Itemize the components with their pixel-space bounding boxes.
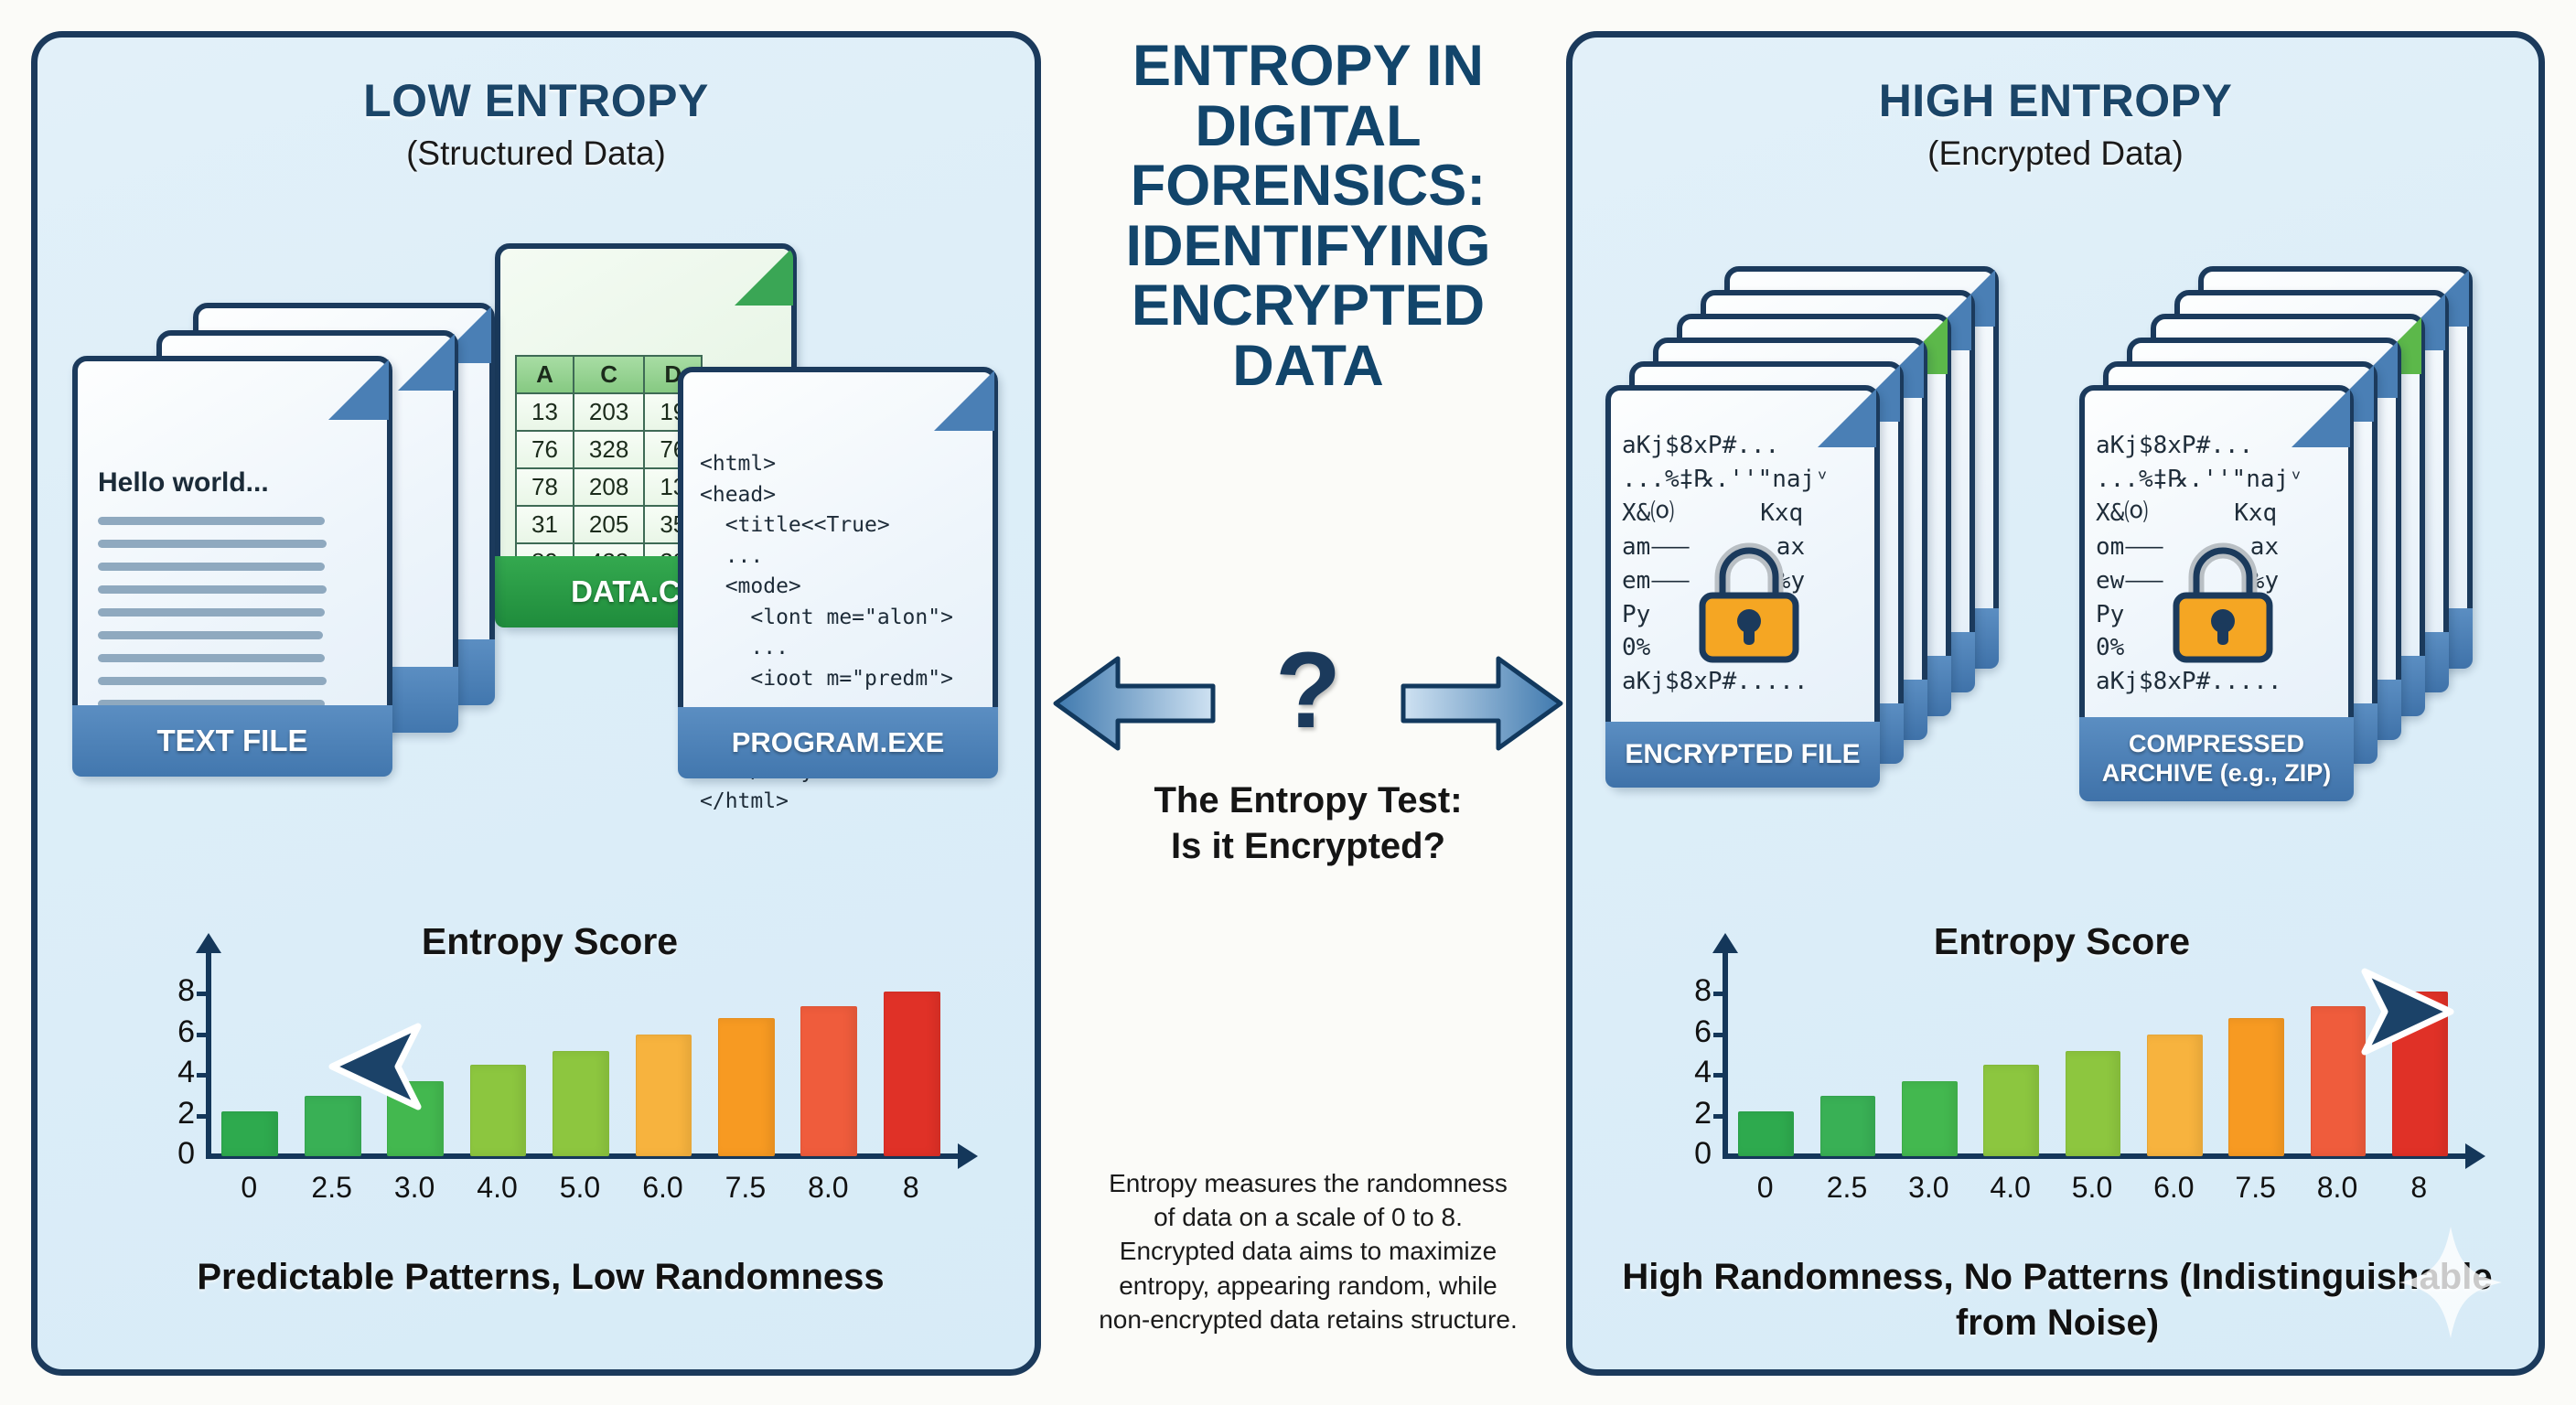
chart-x-tick-label: 2.5	[290, 1171, 372, 1205]
compressed-file-card[interactable]: aKj$8xP#... ...%‡℞.''"najᵛ X&⒪ Kxq om⸺ a…	[2079, 385, 2354, 801]
csv-cell: 208	[574, 468, 644, 506]
csv-row: 1320319	[516, 393, 702, 431]
chart-x-axis-arrow	[958, 1143, 978, 1169]
chart-x-tick-label: 5.0	[539, 1171, 621, 1205]
chart-x-tick-label: 8.0	[2296, 1171, 2377, 1205]
chart-y-tick-mark	[197, 1114, 209, 1119]
chart-y-axis	[1723, 949, 1728, 1156]
chart-x-tick-label: 4.0	[1970, 1171, 2051, 1205]
chart-x-axis-arrow	[2465, 1143, 2485, 1169]
chart-plot-area	[1724, 973, 2460, 1156]
program-file-label: PROGRAM.EXE	[678, 707, 998, 778]
csv-col-c: C	[574, 356, 644, 393]
chart-y-axis-arrow	[196, 933, 221, 953]
chart-y-tick-mark	[197, 1073, 209, 1078]
text-file-line	[98, 563, 325, 571]
text-file-line	[98, 677, 327, 685]
compressed-label-line2: ARCHIVE (e.g., ZIP)	[2102, 759, 2332, 788]
csv-cell: 78	[516, 468, 574, 506]
high-entropy-subtitle: (Encrypted Data)	[1572, 134, 2538, 173]
chart-x-tick-label: 6.0	[2133, 1171, 2215, 1205]
left-chart-title: Entropy Score	[120, 920, 980, 963]
chart-x-tick-label: 4.0	[456, 1171, 538, 1205]
chart-x-tick-label: 7.5	[704, 1171, 787, 1205]
chart-x-tick-label: 3.0	[373, 1171, 456, 1205]
chart-bar	[718, 1018, 775, 1156]
chart-x-tick-label: 6.0	[621, 1171, 703, 1205]
chart-bar	[2228, 1018, 2284, 1156]
csv-row: 7632876	[516, 431, 702, 468]
infographic-canvas: LOW ENTROPY (Structured Data) A C D 1320…	[0, 0, 2576, 1405]
chart-y-tick-label: 0	[1668, 1136, 1712, 1172]
chart-y-tick-mark	[1713, 1114, 1726, 1119]
program-file-fold-corner	[934, 370, 994, 431]
chart-y-tick-label: 4	[151, 1055, 195, 1090]
csv-cell: 31	[516, 506, 574, 543]
text-file-line	[98, 654, 325, 662]
chart-bar	[636, 1035, 692, 1156]
chart-marker-arrow-left-icon	[327, 1019, 427, 1114]
entropy-test-line2: Is it Encrypted?	[1052, 823, 1564, 869]
entropy-explanation-note: Entropy measures the randomness of data …	[1098, 1166, 1519, 1336]
sparkle-icon	[2396, 1223, 2506, 1342]
low-entropy-panel: LOW ENTROPY (Structured Data) A C D 1320…	[31, 31, 1041, 1376]
chart-plot-area	[208, 973, 952, 1156]
csv-row: 3120535	[516, 506, 702, 543]
text-file-card[interactable]: Hello world... TEXT FILE	[72, 356, 392, 777]
chart-y-tick-mark	[1713, 1073, 1726, 1078]
csv-row: 7820813	[516, 468, 702, 506]
chart-bar	[800, 1006, 857, 1156]
chart-y-tick-mark	[1713, 992, 1726, 996]
chart-bar	[470, 1065, 527, 1156]
chart-marker-arrow-right-icon	[2356, 964, 2456, 1059]
compressed-file-label: COMPRESSED ARCHIVE (e.g., ZIP)	[2079, 717, 2354, 801]
csv-cell: 76	[516, 431, 574, 468]
entropy-decision-row: ?	[1052, 631, 1564, 759]
chart-x-tick-label: 8	[2378, 1171, 2460, 1205]
chart-y-tick-label: 8	[151, 973, 195, 1009]
chart-bar	[1983, 1065, 2039, 1156]
high-entropy-title: HIGH ENTROPY	[1572, 74, 2538, 127]
chart-y-tick-label: 6	[1668, 1014, 1712, 1050]
left-entropy-chart: Entropy Score 0246802.53.04.05.06.07.58.…	[120, 920, 980, 1222]
entropy-test-label: The Entropy Test: Is it Encrypted?	[1052, 778, 1564, 869]
right-entropy-chart: Entropy Score 0246802.53.04.05.06.07.58.…	[1637, 920, 2487, 1222]
chart-y-tick-mark	[197, 1033, 209, 1037]
chart-x-tick-label: 8	[870, 1171, 952, 1205]
csv-header-row: A C D	[516, 356, 702, 393]
encrypted-file-card[interactable]: aKj$8xP#... ...%‡℞.''"najᵛ X&⒪ Kxq am⸺ a…	[1605, 385, 1880, 788]
text-file-fold-corner	[328, 359, 389, 420]
chart-y-axis	[206, 949, 211, 1156]
csv-cell: 205	[574, 506, 644, 543]
text-file-line	[98, 608, 325, 617]
high-entropy-panel: HIGH ENTROPY (Encrypted Data) aKj$8xP#..…	[1566, 31, 2545, 1376]
chart-bar	[1902, 1081, 1958, 1156]
right-panel-caption: High Randomness, No Patterns (Indistingu…	[1591, 1254, 2524, 1346]
csv-col-a: A	[516, 356, 574, 393]
chart-y-tick-label: 8	[1668, 973, 1712, 1009]
left-panel-caption: Predictable Patterns, Low Randomness	[74, 1254, 1007, 1300]
chart-x-tick-label: 7.5	[2215, 1171, 2296, 1205]
lock-icon	[1690, 531, 1809, 669]
right-chart-title: Entropy Score	[1637, 920, 2487, 963]
chart-bar	[221, 1111, 278, 1156]
low-entropy-subtitle: (Structured Data)	[38, 134, 1035, 173]
chart-y-tick-mark	[197, 992, 209, 996]
center-column: ENTROPY IN DIGITAL FORENSICS: IDENTIFYIN…	[1052, 0, 1564, 1405]
text-file-fold-back1	[398, 334, 455, 391]
csv-cell: 328	[574, 431, 644, 468]
high-entropy-heading: HIGH ENTROPY (Encrypted Data)	[1572, 74, 2538, 173]
text-file-line	[98, 631, 323, 639]
chart-y-tick-label: 6	[151, 1014, 195, 1050]
text-file-line	[98, 517, 325, 525]
text-file-preview: Hello world...	[98, 467, 269, 499]
low-entropy-heading: LOW ENTROPY (Structured Data)	[38, 74, 1035, 173]
chart-x-tick-label: 0	[1724, 1171, 1806, 1205]
csv-fold-corner	[735, 247, 793, 306]
csv-cell: 13	[516, 393, 574, 431]
chart-bar	[1738, 1111, 1794, 1156]
chart-bar	[2066, 1051, 2121, 1156]
chart-x-tick-label: 0	[208, 1171, 290, 1205]
compressed-label-line1: COMPRESSED	[2129, 730, 2304, 759]
text-file-label: TEXT FILE	[72, 705, 392, 777]
lock-icon	[2163, 531, 2282, 669]
chart-x-tick-label: 8.0	[787, 1171, 869, 1205]
chart-bar	[553, 1051, 609, 1156]
chart-y-axis-arrow	[1712, 933, 1738, 953]
arrow-right-icon	[1400, 653, 1564, 754]
chart-y-tick-label: 2	[151, 1096, 195, 1132]
chart-x-tick-label: 2.5	[1806, 1171, 1887, 1205]
chart-x-tick-label: 5.0	[2051, 1171, 2132, 1205]
program-file-card[interactable]: <html> <head> <title<<True> ... <mode> <…	[678, 367, 998, 778]
chart-bar	[884, 992, 940, 1156]
main-title: ENTROPY IN DIGITAL FORENSICS: IDENTIFYIN…	[1052, 37, 1564, 396]
chart-y-tick-label: 2	[1668, 1096, 1712, 1132]
chart-bar	[1820, 1096, 1876, 1156]
chart-bar	[2147, 1035, 2203, 1156]
chart-y-tick-label: 4	[1668, 1055, 1712, 1090]
low-entropy-title: LOW ENTROPY	[38, 74, 1035, 127]
chart-y-tick-mark	[1713, 1033, 1726, 1037]
encrypted-file-label: ENCRYPTED FILE	[1605, 722, 1880, 788]
text-file-line	[98, 540, 327, 548]
entropy-test-line1: The Entropy Test:	[1052, 778, 1564, 823]
chart-y-tick-label: 0	[151, 1136, 195, 1172]
csv-cell: 203	[574, 393, 644, 431]
chart-x-tick-label: 3.0	[1888, 1171, 1970, 1205]
text-file-line	[98, 585, 327, 594]
